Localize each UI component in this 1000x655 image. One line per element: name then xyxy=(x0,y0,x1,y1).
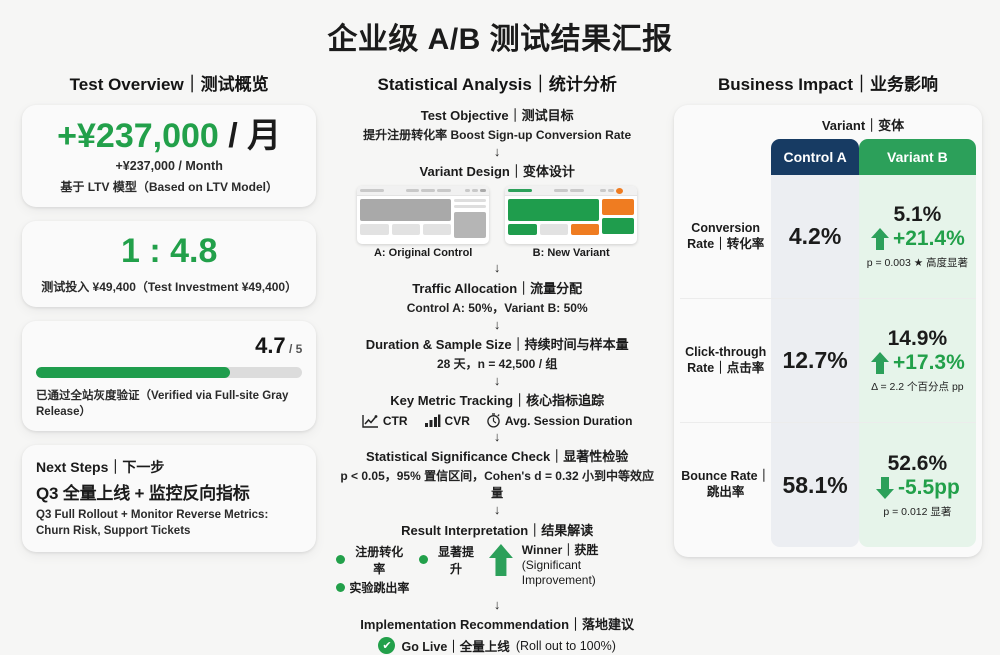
variant-delta-row: -5.5pp xyxy=(875,476,960,500)
next-steps-desc: Q3 Full Rollout + Monitor Reverse Metric… xyxy=(36,508,302,539)
variant-value: 5.1% xyxy=(893,203,941,227)
score-row: 4.7 / 5 xyxy=(36,333,302,359)
bar-chart-icon xyxy=(424,414,441,428)
bullet-label: 注册转化率 xyxy=(349,543,409,577)
table-row: Click-through Rate｜点击率 xyxy=(680,299,771,423)
metric-label: CVR xyxy=(445,414,470,428)
flow-design-head: Variant Design｜变体设计 xyxy=(336,161,658,180)
column-test-overview: Test Overview｜测试概览 +¥237,000 / 月 +¥237,0… xyxy=(8,58,330,655)
metric-label: Avg. Session Duration xyxy=(505,414,633,428)
toolbar-pill xyxy=(360,189,383,192)
flow-metric-head: Key Metric Tracking｜核心指标追踪 xyxy=(336,390,658,409)
down-arrow-icon: ↓ xyxy=(336,145,658,159)
flow-result-head: Result Interpretation｜结果解读 xyxy=(336,520,658,539)
flow-traffic-sub: Control A: 50%，Variant B: 50% xyxy=(336,299,658,316)
variant-caption: Variant｜变体 xyxy=(680,115,976,134)
bullet-dot-icon xyxy=(336,583,345,592)
bullet-row: 注册转化率 显著提升 xyxy=(336,543,480,577)
report-page: 企业级 A/B 测试结果汇报 Test Overview｜测试概览 +¥237,… xyxy=(0,0,1000,571)
column-header-right: Business Impact｜业务影响 xyxy=(674,70,982,95)
roi-value: 1 : 4.8 xyxy=(36,233,302,270)
mockup-variant: B: New Variant xyxy=(505,186,637,259)
column-header-mid: Statistical Analysis｜统计分析 xyxy=(336,70,658,95)
next-steps-label: Next Steps｜下一步 xyxy=(36,457,302,477)
toolbar-pill xyxy=(554,189,568,192)
revenue-note: 基于 LTV 模型（Based on LTV Model） xyxy=(36,178,302,195)
flow-duration-sub: 28 天，n = 42,500 / 组 xyxy=(336,355,658,372)
variant-delta: -5.5pp xyxy=(898,476,960,500)
down-arrow-icon: ↓ xyxy=(336,430,658,444)
toolbar-pill xyxy=(465,189,471,192)
score-note: 已通过全站灰度验证（Verified via Full-site Gray Re… xyxy=(36,387,302,419)
page-title: 企业级 A/B 测试结果汇报 xyxy=(0,0,1000,58)
browser-toolbar-a xyxy=(357,186,489,196)
check-circle-icon: ✔ xyxy=(378,637,395,654)
metric-cvr: CVR xyxy=(424,414,470,428)
metric-name: Bounce Rate｜跳出率 xyxy=(680,469,771,500)
toolbar-pill xyxy=(600,189,606,192)
column-business-impact: Business Impact｜业务影响 Variant｜变体 Conversi… xyxy=(664,58,992,655)
table-cell: 52.6% -5.5pp p = 0.012 显著 xyxy=(859,423,976,547)
winner-label: Winner｜获胜 xyxy=(522,543,658,558)
metric-session-duration: Avg. Session Duration xyxy=(486,413,633,428)
revenue-unit: / 月 xyxy=(228,117,281,155)
toolbar-pill xyxy=(406,189,420,192)
table-cell: 12.7% xyxy=(771,299,858,423)
up-arrow-icon xyxy=(488,543,514,577)
arrow-down-icon xyxy=(875,476,895,500)
bullet-row: 实验跳出率 xyxy=(336,579,480,596)
metric-name: Conversion Rate｜转化率 xyxy=(680,221,771,252)
three-column-layout: Test Overview｜测试概览 +¥237,000 / 月 +¥237,0… xyxy=(0,58,1000,655)
toolbar-pill xyxy=(421,189,435,192)
bullet-dot-icon xyxy=(419,555,428,564)
flow-duration-head: Duration & Sample Size｜持续时间与样本量 xyxy=(336,334,658,353)
browser-frame-a xyxy=(357,186,489,244)
result-interpretation: 注册转化率 显著提升 实验跳出率 xyxy=(336,543,658,596)
metric-header-blank xyxy=(680,139,771,175)
revenue-subtitle: +¥237,000 / Month xyxy=(36,159,302,173)
down-arrow-icon: ↓ xyxy=(336,503,658,517)
analysis-flow: Test Objective｜测试目标 提升注册转化率 Boost Sign-u… xyxy=(336,105,658,655)
variant-value: 52.6% xyxy=(888,452,948,476)
header-control-a: Control A xyxy=(771,139,858,175)
toolbar-pill xyxy=(508,189,532,192)
metric-label: CTR xyxy=(383,414,408,428)
revenue-value: +¥237,000 / 月 xyxy=(36,117,302,156)
flow-impl-head: Implementation Recommendation｜落地建议 xyxy=(336,614,658,633)
line-chart-icon xyxy=(362,414,379,428)
flow-traffic-head: Traffic Allocation｜流量分配 xyxy=(336,278,658,297)
table-cell: 5.1% +21.4% p = 0.003 ★ 高度显著 xyxy=(859,175,976,299)
table-cell: 14.9% +17.3% Δ = 2.2 个百分点 pp xyxy=(859,299,976,423)
control-value: 58.1% xyxy=(782,472,847,499)
score-progress-fill xyxy=(36,367,230,378)
mockup-control: A: Original Control xyxy=(357,186,489,259)
table-row: Conversion Rate｜转化率 xyxy=(680,175,771,299)
go-live-note: (Roll out to 100%) xyxy=(516,639,616,653)
column-statistical-analysis: Statistical Analysis｜统计分析 Test Objective… xyxy=(330,58,664,655)
control-value: 12.7% xyxy=(782,347,847,374)
card-revenue-impact: +¥237,000 / 月 +¥237,000 / Month 基于 LTV 模… xyxy=(22,105,316,207)
bullet-label: 实验跳出率 xyxy=(349,579,409,596)
variant-delta: +17.3% xyxy=(893,351,965,375)
toolbar-dot xyxy=(616,188,623,194)
roi-note: 测试投入 ¥49,400（Test Investment ¥49,400） xyxy=(36,278,302,295)
go-live-label: Go Live｜全量上线 xyxy=(401,636,509,655)
down-arrow-icon: ↓ xyxy=(336,318,658,332)
bullet-item: 实验跳出率 xyxy=(336,579,409,596)
bullet-label: 显著提升 xyxy=(432,543,480,577)
flow-significance-head: Statistical Significance Check｜显著性检验 xyxy=(336,446,658,465)
down-arrow-icon: ↓ xyxy=(336,598,658,612)
revenue-amount: +¥237,000 xyxy=(57,117,219,155)
mockup-b-caption: B: New Variant xyxy=(505,247,637,259)
card-roi-ratio: 1 : 4.8 测试投入 ¥49,400（Test Investment ¥49… xyxy=(22,221,316,307)
table-cell: 4.2% xyxy=(771,175,858,299)
toolbar-pill xyxy=(472,189,478,192)
card-quality-score: 4.7 / 5 已通过全站灰度验证（Verified via Full-site… xyxy=(22,321,316,431)
metric-name: Click-through Rate｜点击率 xyxy=(680,345,771,376)
score-max: / 5 xyxy=(289,342,302,356)
key-metrics-list: CTR CVR xyxy=(336,413,658,428)
variant-value: 14.9% xyxy=(888,327,948,351)
toolbar-pill xyxy=(570,189,584,192)
toolbar-pill xyxy=(480,189,486,192)
bullet-dot-icon xyxy=(336,555,345,564)
bullet-item: 显著提升 xyxy=(419,543,480,577)
flow-objective-sub: 提升注册转化率 Boost Sign-up Conversion Rate xyxy=(336,126,658,143)
browser-body-b xyxy=(505,196,637,244)
browser-frame-b xyxy=(505,186,637,244)
arrow-up-icon xyxy=(870,351,890,375)
result-bullets: 注册转化率 显著提升 实验跳出率 xyxy=(336,543,480,596)
go-live-row: ✔ Go Live｜全量上线 (Roll out to 100%) xyxy=(336,636,658,655)
toolbar-pill xyxy=(608,189,614,192)
arrow-up-icon xyxy=(870,227,890,251)
winner-block: Winner｜获胜 (Significant Improvement) xyxy=(522,543,658,588)
down-arrow-icon: ↓ xyxy=(336,374,658,388)
variant-delta-row: +17.3% xyxy=(870,351,965,375)
stopwatch-icon xyxy=(486,413,501,428)
toolbar-pill xyxy=(437,189,451,192)
score-value: 4.7 xyxy=(255,333,286,358)
flow-objective-head: Test Objective｜测试目标 xyxy=(336,105,658,124)
variant-note: p = 0.003 ★ 高度显著 xyxy=(867,255,968,270)
score-progress-track xyxy=(36,367,302,378)
browser-body-a xyxy=(357,196,489,244)
table-column-control-a: Control A 4.2% 12.7% 58.1% xyxy=(771,139,858,547)
winner-sub: (Significant Improvement) xyxy=(522,558,658,588)
down-arrow-icon: ↓ xyxy=(336,261,658,275)
impact-table: Conversion Rate｜转化率 Click-through Rate｜点… xyxy=(680,139,976,547)
table-column-variant-b: Variant B 5.1% +21.4% p = 0.003 ★ 高度显著 xyxy=(859,139,976,547)
column-header-left: Test Overview｜测试概览 xyxy=(22,70,316,95)
flow-significance-sub: p < 0.05，95% 置信区间，Cohen's d = 0.32 小到中等效… xyxy=(336,467,658,501)
metric-ctr: CTR xyxy=(362,414,408,428)
variant-note: Δ = 2.2 个百分点 pp xyxy=(871,379,964,394)
variant-delta-row: +21.4% xyxy=(870,227,965,251)
header-variant-b: Variant B xyxy=(859,139,976,175)
table-column-metric: Conversion Rate｜转化率 Click-through Rate｜点… xyxy=(680,139,771,547)
table-row: Bounce Rate｜跳出率 xyxy=(680,423,771,547)
browser-toolbar-b xyxy=(505,186,637,196)
mockup-a-caption: A: Original Control xyxy=(357,247,489,259)
impact-table-card: Variant｜变体 Conversion Rate｜转化率 Click-thr… xyxy=(674,105,982,557)
card-next-steps: Next Steps｜下一步 Q3 全量上线 + 监控反向指标 Q3 Full … xyxy=(22,445,316,551)
variant-note: p = 0.012 显著 xyxy=(883,504,951,519)
next-steps-title: Q3 全量上线 + 监控反向指标 xyxy=(36,479,302,504)
table-cell: 58.1% xyxy=(771,423,858,547)
bullet-item: 注册转化率 xyxy=(336,543,409,577)
variant-mockups: A: Original Control xyxy=(336,186,658,259)
control-value: 4.2% xyxy=(789,223,841,250)
variant-delta: +21.4% xyxy=(893,227,965,251)
